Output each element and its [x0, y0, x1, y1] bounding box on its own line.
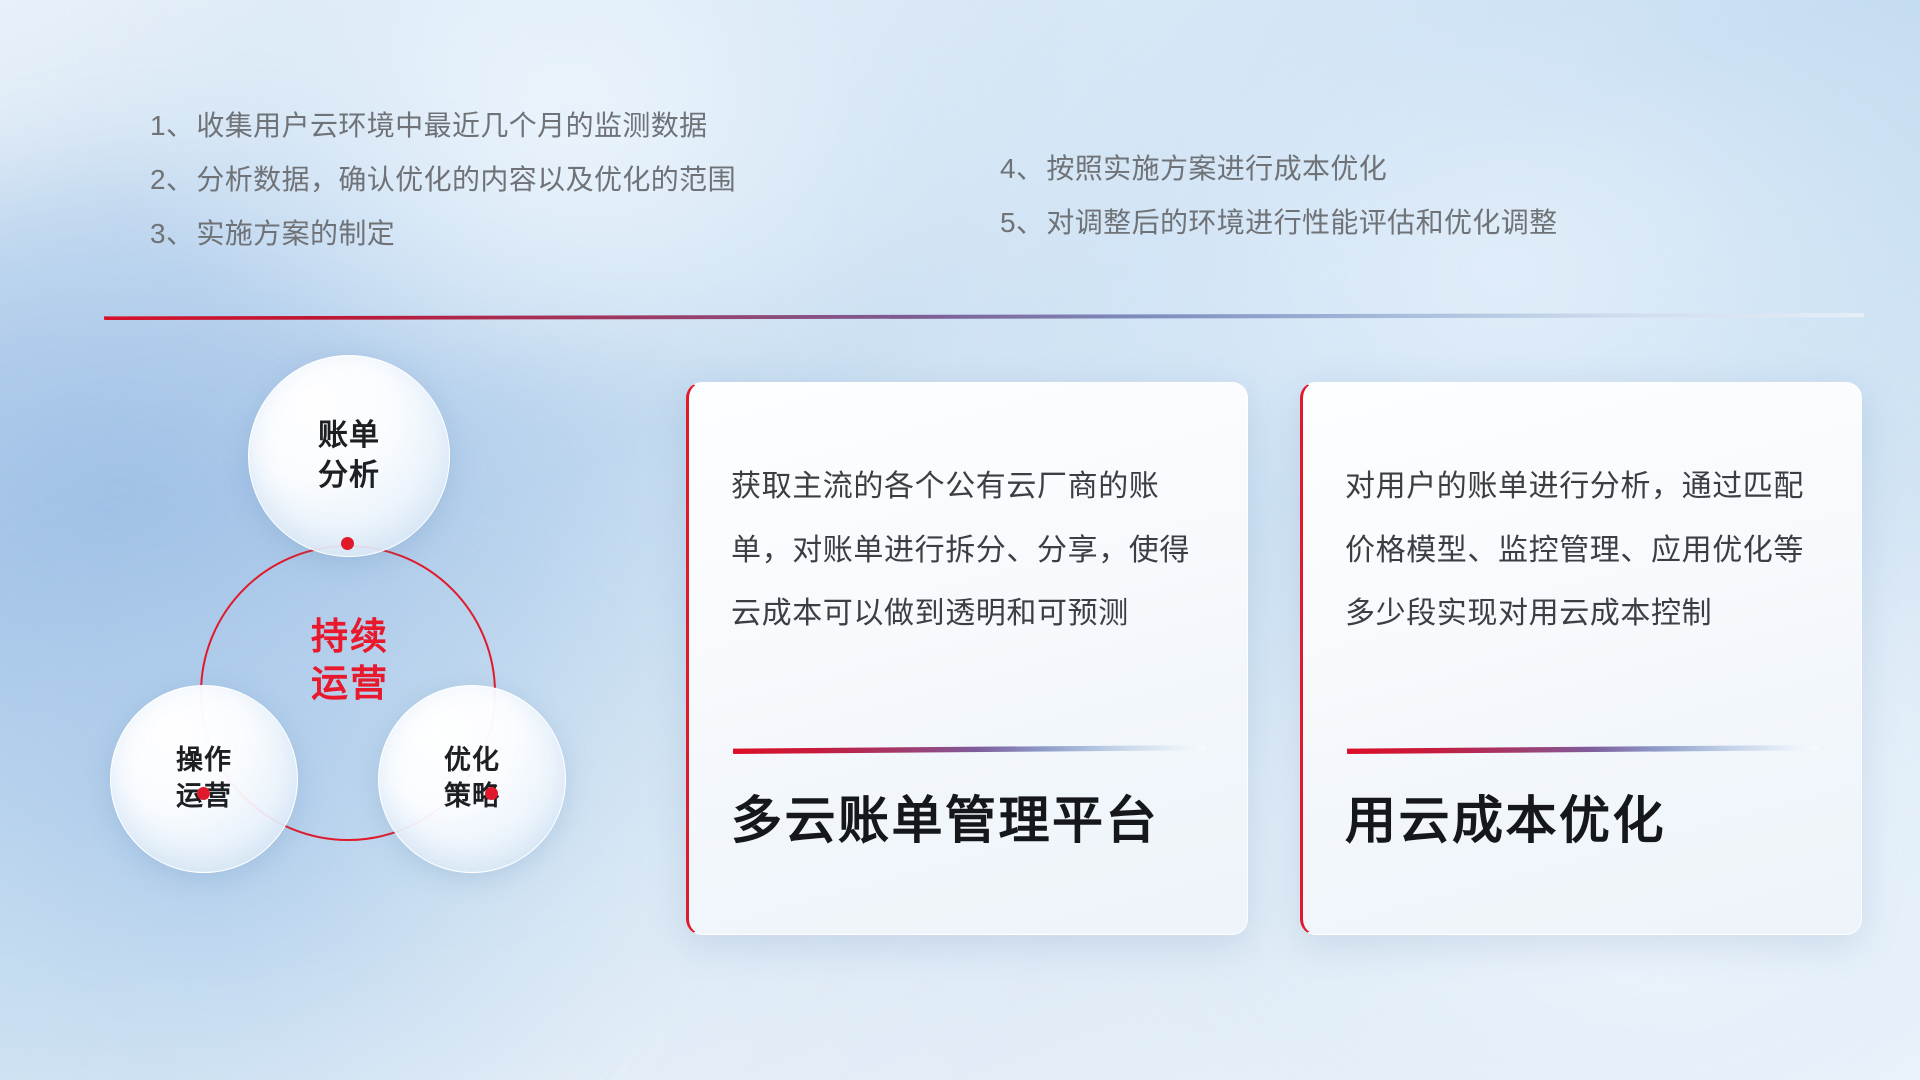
- center-label: 持续 运营: [260, 613, 440, 708]
- connector-dot-left: [197, 787, 210, 800]
- card-accent-bar: [733, 745, 1205, 754]
- card-description: 获取主流的各个公有云厂商的账单，对账单进行拆分、分享，使得云成本可以做到透明和可…: [731, 455, 1209, 646]
- bubble-label-line2: 分析: [318, 456, 380, 496]
- steps-right-column: 4、 按照实施方案进行成本优化 5、 对调整后的环境进行性能评估和优化调整: [1000, 155, 1558, 263]
- bubble-label-line1: 账单: [318, 416, 380, 456]
- step-number: 3、: [150, 220, 194, 248]
- step-label: 分析数据，确认优化的内容以及优化的范围: [196, 166, 736, 194]
- bubble-label: 操作 运营: [176, 743, 232, 814]
- bubble-label: 账单 分析: [318, 416, 380, 495]
- card-title: 用云成本优化: [1345, 793, 1666, 849]
- step-item: 4、 按照实施方案进行成本优化: [1000, 155, 1558, 183]
- connector-dot-right: [485, 787, 498, 800]
- feature-card-cloud-cost-optimization[interactable]: 对用户的账单进行分析，通过匹配价格模型、监控管理、应用优化等多少段实现对用云成本…: [1300, 382, 1862, 935]
- step-number: 2、: [150, 166, 194, 194]
- step-label: 收集用户云环境中最近几个月的监测数据: [196, 112, 707, 140]
- feature-card-multi-cloud-billing[interactable]: 获取主流的各个公有云厂商的账单，对账单进行拆分、分享，使得云成本可以做到透明和可…: [686, 382, 1248, 935]
- diagram-bubble-billing-analysis[interactable]: 账单 分析: [248, 355, 450, 557]
- card-description: 对用户的账单进行分析，通过匹配价格模型、监控管理、应用优化等多少段实现对用云成本…: [1345, 455, 1823, 646]
- step-item: 3、 实施方案的制定: [150, 220, 736, 248]
- bubble-label-line1: 操作: [176, 743, 232, 779]
- step-number: 4、: [1000, 155, 1044, 183]
- step-label: 实施方案的制定: [196, 220, 395, 248]
- step-item: 2、 分析数据，确认优化的内容以及优化的范围: [150, 166, 736, 194]
- center-label-line2: 运营: [260, 660, 440, 707]
- card-accent-bar: [1347, 745, 1819, 754]
- bubble-label-line1: 优化: [444, 743, 500, 779]
- bubble-label: 优化 策略: [444, 743, 500, 814]
- step-number: 1、: [150, 112, 194, 140]
- card-title: 多云账单管理平台: [731, 793, 1159, 849]
- cycle-diagram: 持续 运营 账单 分析 操作 运营 优化 策略: [100, 355, 620, 915]
- step-item: 5、 对调整后的环境进行性能评估和优化调整: [1000, 209, 1558, 237]
- step-label: 按照实施方案进行成本优化: [1046, 155, 1387, 183]
- connector-dot-top: [341, 537, 354, 550]
- step-number: 5、: [1000, 209, 1044, 237]
- step-label: 对调整后的环境进行性能评估和优化调整: [1046, 209, 1557, 237]
- step-item: 1、 收集用户云环境中最近几个月的监测数据: [150, 112, 736, 140]
- slide-canvas: 1、 收集用户云环境中最近几个月的监测数据 2、 分析数据，确认优化的内容以及优…: [0, 0, 1920, 1080]
- diagram-bubble-operations[interactable]: 操作 运营: [110, 685, 298, 873]
- steps-left-column: 1、 收集用户云环境中最近几个月的监测数据 2、 分析数据，确认优化的内容以及优…: [150, 112, 736, 274]
- diagram-bubble-optimization-strategy[interactable]: 优化 策略: [378, 685, 566, 873]
- center-label-line1: 持续: [260, 613, 440, 660]
